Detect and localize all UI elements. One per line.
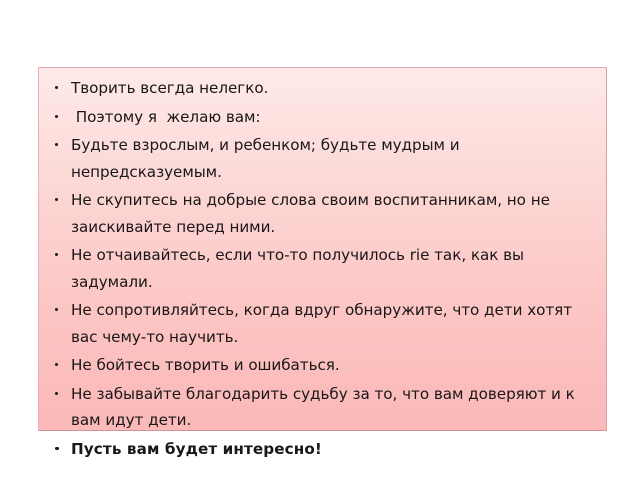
bullet-list: Творить всегда нелегко. Поэтому я желаю … (49, 75, 596, 462)
bullet-dot-icon (55, 115, 58, 118)
list-item-text: Не забывайте благодарить судьбу за то, ч… (71, 385, 580, 430)
bullet-dot-icon (55, 253, 58, 256)
list-item: Не скупитесь на добрые слова своим воспи… (49, 187, 596, 240)
text-content-box: Творить всегда нелегко. Поэтому я желаю … (38, 67, 607, 431)
list-item: Пусть вам будет интересно! (49, 436, 596, 463)
slide-canvas: Творить всегда нелегко. Поэтому я желаю … (0, 0, 640, 480)
bullet-dot-icon (55, 86, 58, 89)
bullet-dot-icon (55, 143, 58, 146)
list-item-text: Не скупитесь на добрые слова своим воспи… (71, 191, 555, 236)
bullet-dot-icon (55, 198, 58, 201)
list-item-text: Поэтому я желаю вам: (71, 108, 260, 126)
list-item: Поэтому я желаю вам: (49, 104, 596, 131)
list-item: Не сопротивляйтесь, когда вдруг обнаружи… (49, 297, 596, 350)
list-item-text: Не отчаивайтесь, если что-то получилось … (71, 246, 529, 291)
bullet-dot-icon (55, 447, 59, 451)
list-item-text: Пусть вам будет интересно! (71, 440, 322, 458)
bullet-dot-icon (55, 308, 58, 311)
list-item: Не бойтесь творить и ошибаться. (49, 352, 596, 379)
list-item: Будьте взрослым, и ребенком; будьте мудр… (49, 132, 596, 185)
list-item: Не забывайте благодарить судьбу за то, ч… (49, 381, 596, 434)
list-item: Не отчаивайтесь, если что-то получилось … (49, 242, 596, 295)
list-item-text: Не сопротивляйтесь, когда вдруг обнаружи… (71, 301, 577, 346)
list-item-text: Не бойтесь творить и ошибаться. (71, 356, 340, 374)
bullet-dot-icon (55, 392, 58, 395)
list-item-text: Будьте взрослым, и ребенком; будьте мудр… (71, 136, 464, 181)
bullet-dot-icon (55, 363, 58, 366)
list-item-text: Творить всегда нелегко. (71, 79, 268, 97)
list-item: Творить всегда нелегко. (49, 75, 596, 102)
